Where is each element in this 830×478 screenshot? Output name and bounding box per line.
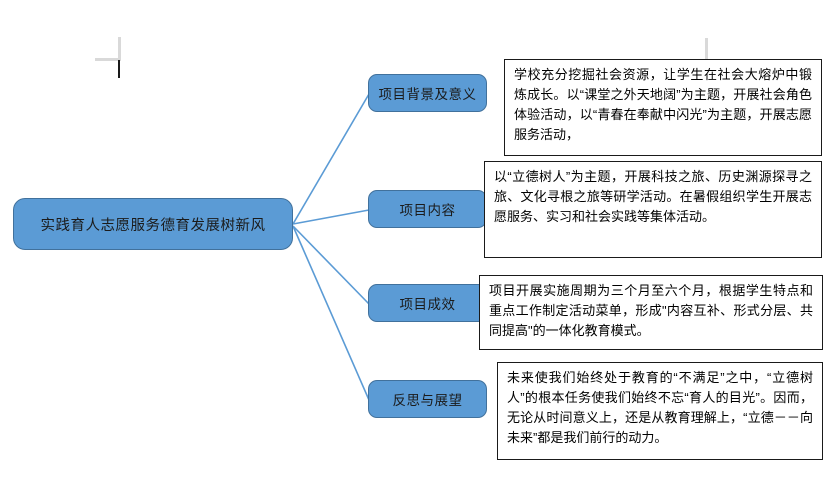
detail-textbox-project-content[interactable]: 以“立德树人”为主题，开展科技之旅、历史渊源探寻之旅、文化寻根之旅等研学活动。在… bbox=[484, 161, 822, 258]
detail-text: 以“立德树人”为主题，开展科技之旅、历史渊源探寻之旅、文化寻根之旅等研学活动。在… bbox=[494, 169, 812, 224]
branch-node-label: 反思与展望 bbox=[393, 389, 463, 409]
detail-text: 未来使我们始终处于教育的“不满足”之中，“立德树人”的根本任务使我们始终不忘“育… bbox=[507, 370, 813, 445]
branch-node-label: 项目成效 bbox=[400, 293, 456, 313]
branch-node-label: 项目内容 bbox=[400, 199, 456, 219]
detail-text: 学校充分挖掘社会资源，让学生在社会大熔炉中锻炼成长。以“课堂之外天地阔”为主题，… bbox=[514, 67, 812, 142]
detail-textbox-project-background[interactable]: 学校充分挖掘社会资源，让学生在社会大熔炉中锻炼成长。以“课堂之外天地阔”为主题，… bbox=[504, 59, 822, 156]
mindmap-canvas: 实践育人志愿服务德育发展树新风 项目背景及意义 项目内容 项目成效 反思与展望 … bbox=[0, 0, 830, 478]
margin-mark-top-left-cursor bbox=[118, 60, 120, 78]
branch-node-label: 项目背景及意义 bbox=[379, 83, 477, 103]
branch-node-project-content[interactable]: 项目内容 bbox=[368, 190, 487, 228]
connector-to-branch-3 bbox=[293, 226, 369, 304]
margin-mark-top-left-vertical bbox=[118, 37, 121, 61]
detail-textbox-project-results[interactable]: 项目开展实施周期为三个月至六个月，根据学生特点和重点工作制定活动菜单，形成"内容… bbox=[479, 275, 823, 350]
root-node-label: 实践育人志愿服务德育发展树新风 bbox=[41, 214, 266, 235]
connector-to-branch-2 bbox=[293, 210, 369, 224]
detail-text: 项目开展实施周期为三个月至六个月，根据学生特点和重点工作制定活动菜单，形成"内容… bbox=[489, 283, 813, 338]
connector-to-branch-1 bbox=[293, 94, 369, 224]
root-node[interactable]: 实践育人志愿服务德育发展树新风 bbox=[13, 198, 293, 250]
connector-to-branch-4 bbox=[293, 226, 369, 400]
detail-textbox-reflection-outlook[interactable]: 未来使我们始终处于教育的“不满足”之中，“立德树人”的根本任务使我们始终不忘“育… bbox=[497, 362, 823, 460]
branch-node-reflection-outlook[interactable]: 反思与展望 bbox=[368, 380, 487, 418]
branch-node-project-background[interactable]: 项目背景及意义 bbox=[368, 74, 487, 112]
branch-node-project-results[interactable]: 项目成效 bbox=[368, 284, 487, 322]
